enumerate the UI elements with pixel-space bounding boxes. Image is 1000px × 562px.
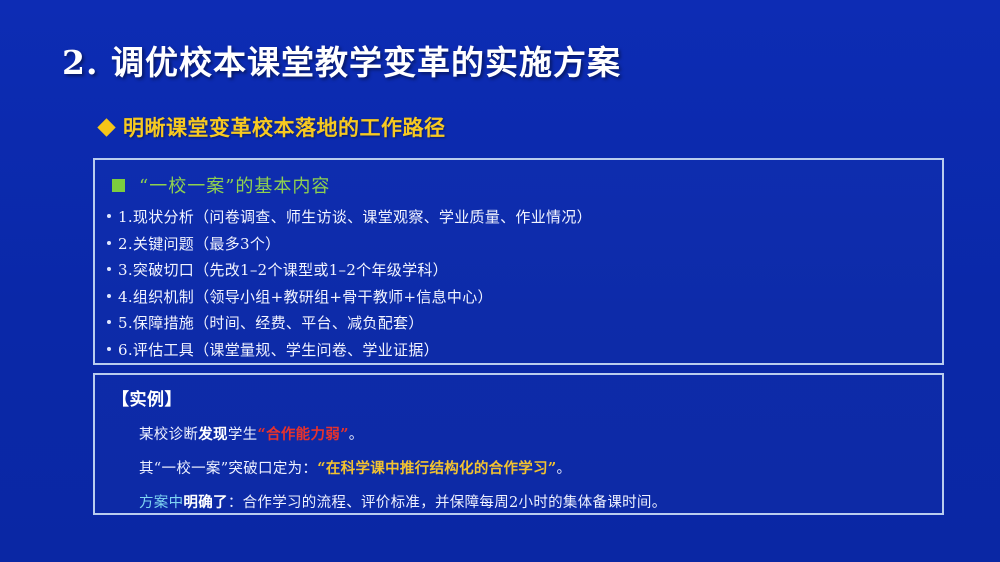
subtitle-label: 明晰课堂变革校本落地的工作路径 xyxy=(123,112,446,142)
example-label: 【实例】 xyxy=(112,385,182,410)
example-line-3: 方案中明确了：合作学习的流程、评价标准，并保障每周2小时的集体备课时间。 xyxy=(139,486,932,520)
example-line-3-rest: ：合作学习的流程、评价标准，并保障每周2小时的集体备课时间。 xyxy=(228,495,667,511)
example-line-2: 其“一校一案”突破口定为：“在科学课中推行结构化的合作学习”。 xyxy=(139,452,932,486)
example-line-2-prefix: 其“一校一案”突破口定为： xyxy=(139,461,317,477)
example-line-3-lead: 方案中 xyxy=(139,495,183,511)
list-item: 5.保障措施（时间、经费、平台、减负配套） xyxy=(107,310,932,337)
list-item: 6.评估工具（课堂量规、学生问卷、学业证据） xyxy=(107,337,932,364)
square-bullet-icon xyxy=(112,179,125,192)
example-line-1: 某校诊断发现学生“合作能力弱”。 xyxy=(139,418,932,452)
example-lines: 某校诊断发现学生“合作能力弱”。 其“一校一案”突破口定为：“在科学课中推行结构… xyxy=(139,418,932,520)
dot-bullet-icon xyxy=(107,241,111,245)
dot-bullet-icon xyxy=(107,320,111,324)
list-item: 1.现状分析（问卷调查、师生访谈、课堂观察、学业质量、作业情况） xyxy=(107,204,932,231)
example-line-2-suffix: 。 xyxy=(557,461,572,477)
list-item-label: 2.关键问题（最多3个） xyxy=(118,231,280,258)
content-panel-heading-label: “一校一案”的基本内容 xyxy=(139,172,330,198)
list-item-label: 4.组织机制（领导小组+教研组+骨干教师+信息中心） xyxy=(118,284,493,311)
example-line-2-quote-open: “ xyxy=(317,460,326,477)
example-line-2-quote-close: ” xyxy=(548,460,557,477)
list-item-label: 6.评估工具（课堂量规、学生问卷、学业证据） xyxy=(118,337,439,364)
list-item-label: 1.现状分析（问卷调查、师生访谈、课堂观察、学业质量、作业情况） xyxy=(118,204,592,231)
dot-bullet-icon xyxy=(107,214,111,218)
content-list: 1.现状分析（问卷调查、师生访谈、课堂观察、学业质量、作业情况） 2.关键问题（… xyxy=(107,204,932,363)
list-item: 4.组织机制（领导小组+教研组+骨干教师+信息中心） xyxy=(107,284,932,311)
example-line-3-bold: 明确了 xyxy=(183,494,227,511)
example-line-1-suffix: 。 xyxy=(349,427,364,443)
list-item: 3.突破切口（先改1–2个课型或1–2个年级学科） xyxy=(107,257,932,284)
page-title: 2. 调优校本课堂教学变革的实施方案 xyxy=(62,36,621,84)
dot-bullet-icon xyxy=(107,294,111,298)
dot-bullet-icon xyxy=(107,347,111,351)
content-panel-heading: “一校一案”的基本内容 xyxy=(112,172,330,198)
subtitle-row: 明晰课堂变革校本落地的工作路径 xyxy=(100,112,446,142)
example-line-2-highlight: 在科学课中推行结构化的合作学习 xyxy=(326,460,548,477)
example-line-1-bold: 发现 xyxy=(198,426,228,443)
diamond-bullet-icon xyxy=(97,118,115,136)
example-line-1-middle: 学生 xyxy=(228,427,258,443)
list-item: 2.关键问题（最多3个） xyxy=(107,231,932,258)
list-item-label: 5.保障措施（时间、经费、平台、减负配套） xyxy=(118,310,424,337)
example-line-1-quote-close: ” xyxy=(340,426,349,443)
example-line-1-highlight: 合作能力弱 xyxy=(266,426,340,443)
example-panel: 【实例】 某校诊断发现学生“合作能力弱”。 其“一校一案”突破口定为：“在科学课… xyxy=(93,373,944,515)
content-panel: “一校一案”的基本内容 1.现状分析（问卷调查、师生访谈、课堂观察、学业质量、作… xyxy=(93,158,944,365)
example-line-1-quote-open: “ xyxy=(257,426,266,443)
list-item-label: 3.突破切口（先改1–2个课型或1–2个年级学科） xyxy=(118,257,448,284)
slide-canvas: 2. 调优校本课堂教学变革的实施方案 明晰课堂变革校本落地的工作路径 “一校一案… xyxy=(0,0,1000,562)
example-line-1-prefix: 某校诊断 xyxy=(139,427,198,443)
dot-bullet-icon xyxy=(107,267,111,271)
